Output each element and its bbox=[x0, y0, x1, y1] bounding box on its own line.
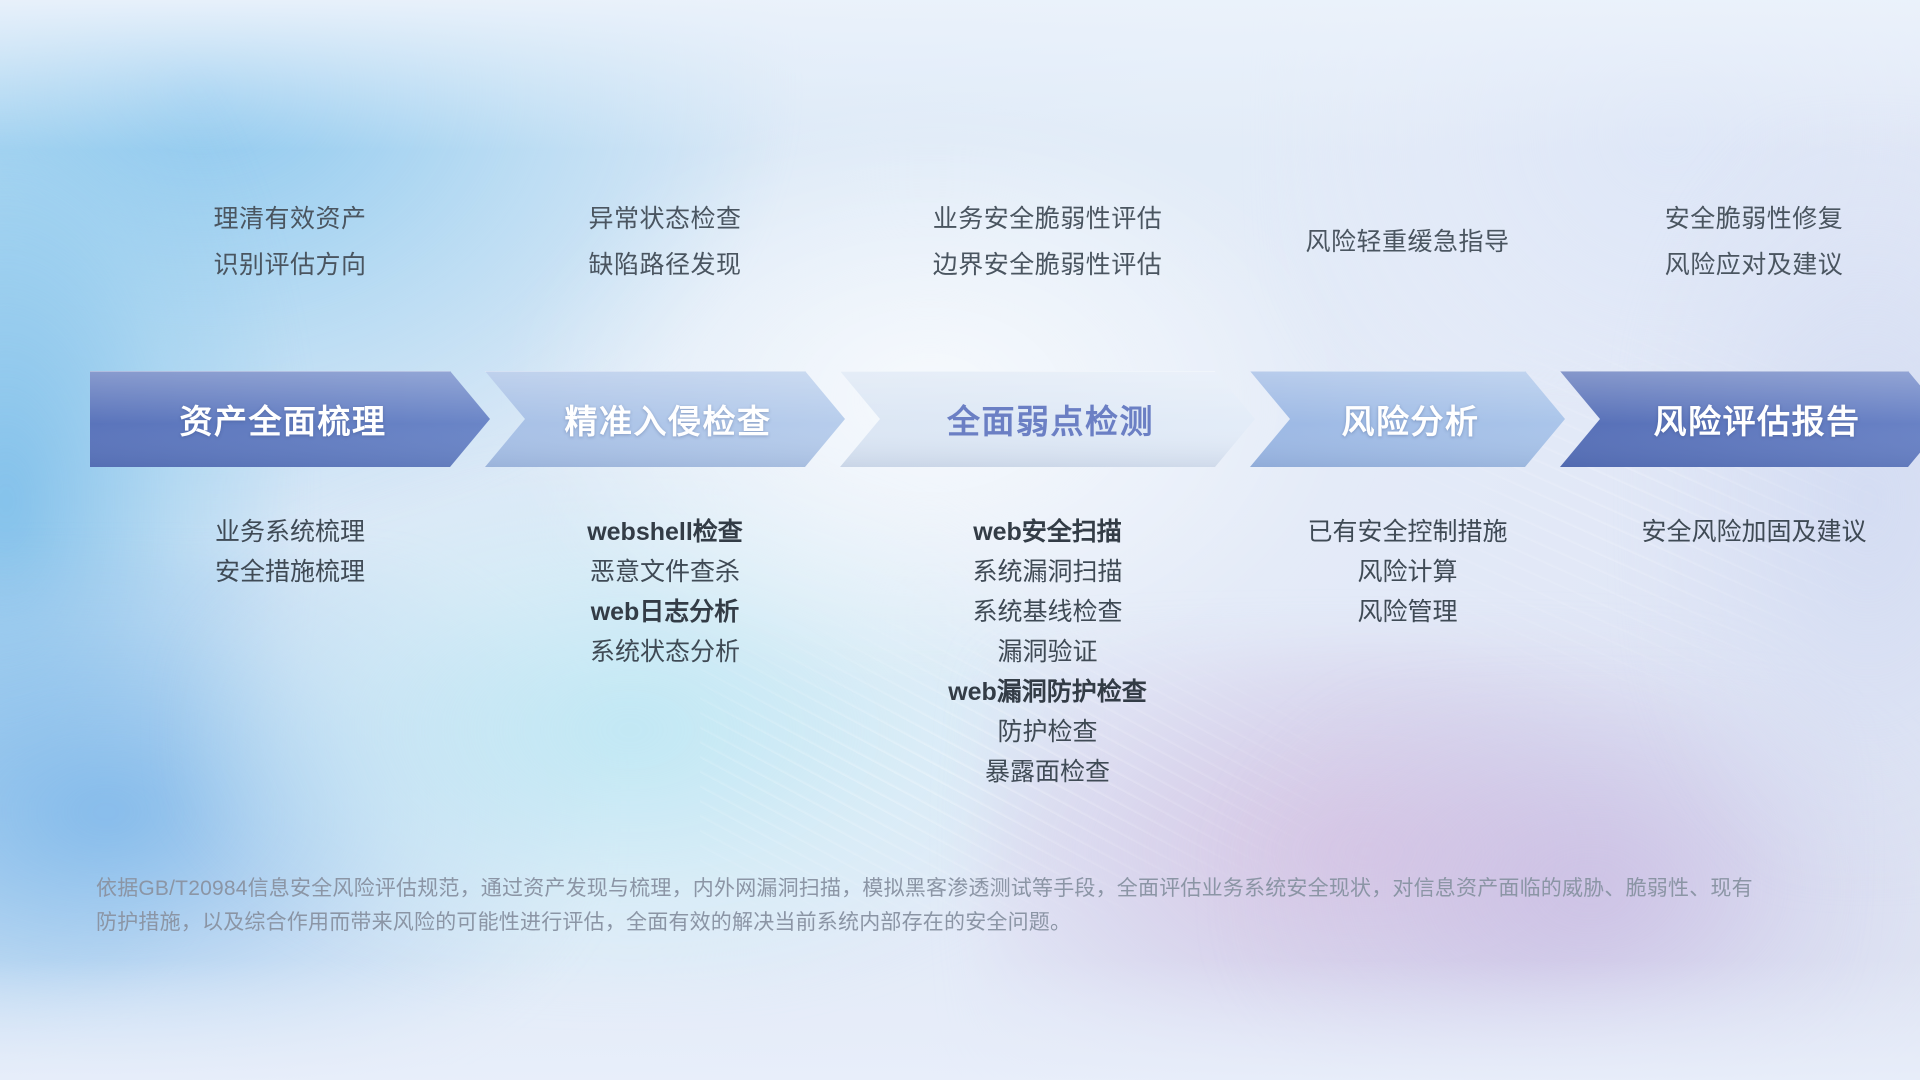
stage-chevron-intrusion-check[interactable]: 精准入侵检查 bbox=[485, 371, 845, 467]
bottom-detail-item: 安全风险加固及建议 bbox=[1524, 512, 1920, 552]
bottom-detail-assessment-report: 安全风险加固及建议 bbox=[1524, 512, 1920, 552]
bottom-detail-item: 风险计算 bbox=[1178, 552, 1638, 592]
stage-chevron-assessment-report[interactable]: 风险评估报告 bbox=[1560, 371, 1920, 467]
stage-label-risk-analysis: 风险分析 bbox=[1342, 395, 1480, 443]
stage-label-assessment-report: 风险评估报告 bbox=[1654, 395, 1861, 443]
bottom-detail-item: 风险管理 bbox=[1178, 592, 1638, 632]
top-annotation-item: 安全脆弱性修复 bbox=[1524, 196, 1920, 242]
stage-label-weakness-detection: 全面弱点检测 bbox=[947, 395, 1154, 443]
stage-chevron-band: 资产全面梳理精准入侵检查全面弱点检测风险分析风险评估报告 bbox=[90, 371, 1848, 467]
bottom-detail-item: web漏洞防护检查 bbox=[818, 672, 1278, 712]
stage-chevron-weakness-detection[interactable]: 全面弱点检测 bbox=[840, 371, 1255, 467]
stage-chevron-asset-inventory[interactable]: 资产全面梳理 bbox=[90, 371, 490, 467]
top-annotation-item: 风险应对及建议 bbox=[1524, 242, 1920, 288]
bottom-detail-item: 漏洞验证 bbox=[818, 632, 1278, 672]
top-annotation-assessment-report: 安全脆弱性修复风险应对及建议 bbox=[1524, 196, 1920, 288]
bottom-detail-item: 防护检查 bbox=[818, 712, 1278, 752]
process-flow-diagram: 理清有效资产识别评估方向异常状态检查缺陷路径发现业务安全脆弱性评估边界安全脆弱性… bbox=[0, 0, 1920, 1080]
footnote-text: 依据GB/T20984信息安全风险评估规范，通过资产发现与梳理，内外网漏洞扫描，… bbox=[96, 872, 1756, 940]
stage-label-asset-inventory: 资产全面梳理 bbox=[180, 395, 387, 443]
stage-label-intrusion-check: 精准入侵检查 bbox=[565, 395, 772, 443]
stage-chevron-risk-analysis[interactable]: 风险分析 bbox=[1250, 371, 1565, 467]
bottom-detail-item: 暴露面检查 bbox=[818, 752, 1278, 792]
